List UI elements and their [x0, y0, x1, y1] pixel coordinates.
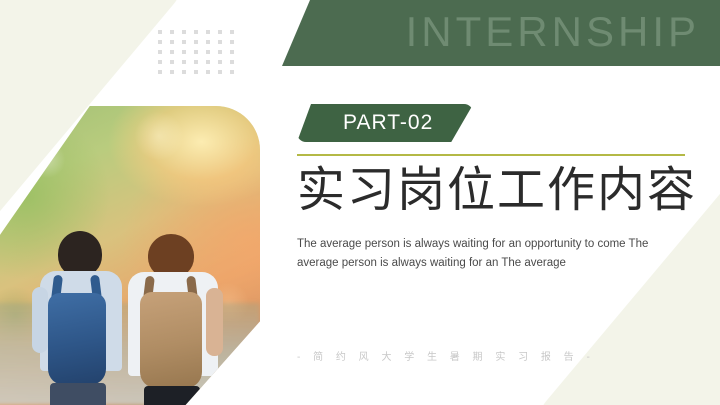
- grid-dot: [218, 60, 222, 64]
- grid-dot: [158, 50, 162, 54]
- content-column: PART-02 实习岗位工作内容 The average person is a…: [297, 104, 697, 273]
- grid-dot: [194, 30, 198, 34]
- grid-dot: [206, 50, 210, 54]
- backpack-tan: [140, 292, 202, 388]
- student-figure-right: [122, 234, 226, 405]
- body-paragraph: The average person is always waiting for…: [297, 235, 657, 273]
- grid-dot: [158, 40, 162, 44]
- grid-dot: [182, 70, 186, 74]
- grid-dot: [206, 60, 210, 64]
- grid-dot: [218, 30, 222, 34]
- grid-dot: [170, 40, 174, 44]
- grid-dot: [194, 60, 198, 64]
- grid-dot: [206, 40, 210, 44]
- student-legs: [144, 386, 200, 405]
- grid-dot: [230, 70, 234, 74]
- grid-dot: [158, 70, 162, 74]
- grid-dot: [206, 70, 210, 74]
- student-legs: [50, 383, 106, 405]
- grid-dot: [158, 60, 162, 64]
- grid-dot: [182, 60, 186, 64]
- page-title: 实习岗位工作内容: [297, 163, 697, 219]
- header-band-title: INTERNSHIP: [406, 2, 700, 62]
- grid-dot: [182, 40, 186, 44]
- grid-dot: [230, 50, 234, 54]
- grid-dot: [170, 70, 174, 74]
- grid-dot: [170, 60, 174, 64]
- header-band: INTERNSHIP: [282, 0, 720, 66]
- footer-caption: - 简 约 风 大 学 生 暑 期 实 习 报 告 -: [297, 348, 595, 363]
- part-badge: PART-02: [297, 104, 473, 142]
- dot-grid-decoration: [158, 30, 242, 80]
- backpack-blue: [48, 293, 106, 385]
- grid-dot: [158, 30, 162, 34]
- grid-dot: [194, 50, 198, 54]
- slide-root: INTERNSHIP: [0, 0, 720, 405]
- grid-dot: [218, 50, 222, 54]
- grid-dot: [218, 70, 222, 74]
- grid-dot: [194, 70, 198, 74]
- grid-dot: [218, 40, 222, 44]
- grid-dot: [230, 60, 234, 64]
- grid-dot: [182, 30, 186, 34]
- grid-dot: [206, 30, 210, 34]
- student-arm: [206, 288, 223, 356]
- grid-dot: [182, 50, 186, 54]
- grid-dot: [170, 50, 174, 54]
- grid-dot: [194, 40, 198, 44]
- grid-dot: [230, 40, 234, 44]
- grid-dot: [230, 30, 234, 34]
- student-arm: [32, 287, 48, 353]
- student-figure-left: [32, 231, 128, 405]
- title-rule: [297, 154, 685, 156]
- grid-dot: [170, 30, 174, 34]
